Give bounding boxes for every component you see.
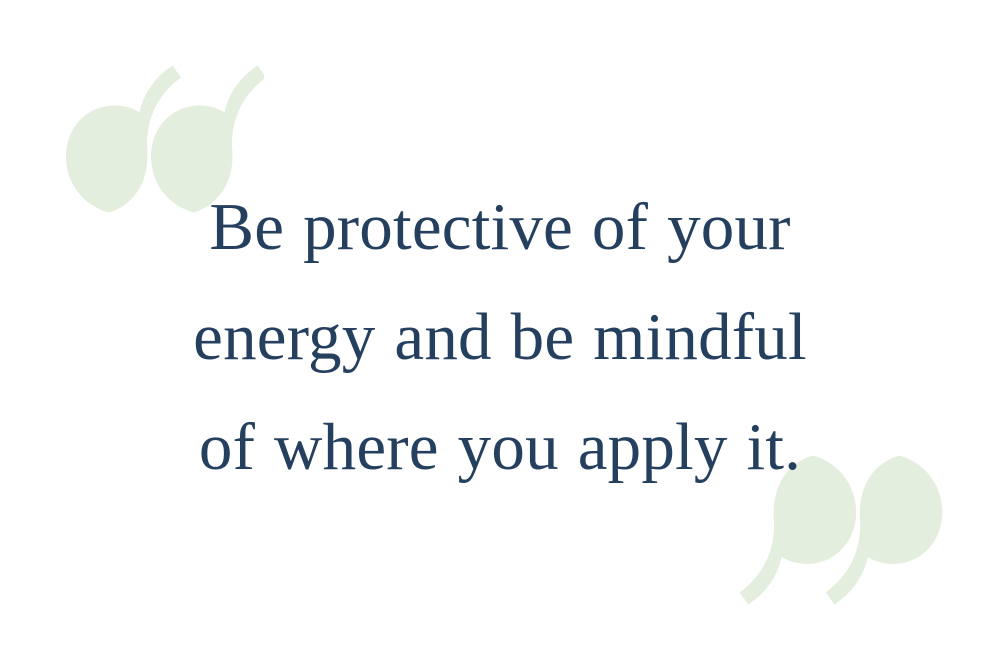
quote-card: Be protective of your energy and be mind… xyxy=(0,0,1000,667)
quote-line: energy and be mindful xyxy=(60,282,940,392)
quote-text: Be protective of your energy and be mind… xyxy=(0,172,1000,502)
quote-line: of where you apply it. xyxy=(60,392,940,502)
quote-line: Be protective of your xyxy=(60,172,940,282)
